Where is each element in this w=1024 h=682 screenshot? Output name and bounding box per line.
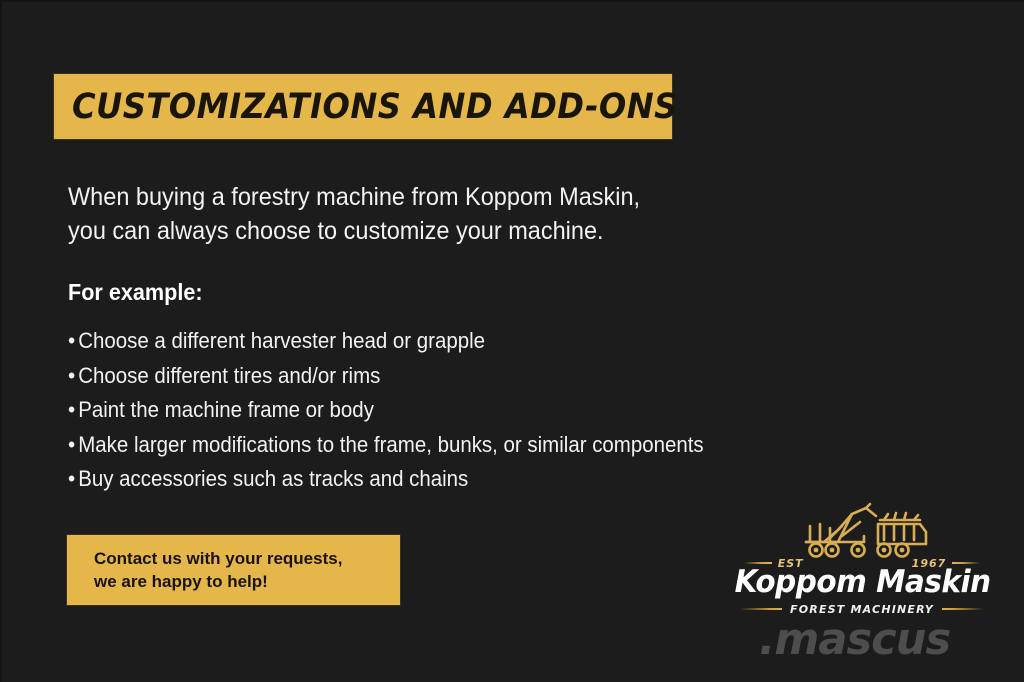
koppom-maskin-logo: EST 1967 Koppom Maskin FOREST MACHINERY [728, 502, 994, 614]
intro-line-2: you can always choose to customize your … [68, 214, 726, 248]
intro-paragraph: When buying a forestry machine from Kopp… [68, 180, 726, 248]
intro-line-1: When buying a forestry machine from Kopp… [68, 180, 726, 214]
contact-cta-box[interactable]: Contact us with your requests, we are ha… [67, 535, 400, 605]
list-item-label: Buy accessories such as tracks and chain… [78, 466, 468, 491]
tagline-rule-right [942, 608, 984, 610]
logo-company-name: Koppom Maskin [735, 564, 988, 600]
title-banner: CUSTOMIZATIONS AND ADD-ONS [54, 74, 672, 139]
list-item: •Buy accessories such as tracks and chai… [68, 462, 812, 497]
list-item: •Choose different tires and/or rims [68, 359, 812, 394]
bullet-dot-icon: • [68, 324, 78, 359]
tagline-rule-left [740, 608, 782, 610]
list-item-label: Choose different tires and/or rims [78, 363, 380, 388]
list-item-label: Paint the machine frame or body [78, 397, 374, 422]
for-example-heading: For example: [68, 279, 203, 306]
list-item: •Choose a different harvester head or gr… [68, 324, 812, 359]
bullet-dot-icon: • [68, 393, 78, 428]
customization-options-list: •Choose a different harvester head or gr… [68, 324, 868, 497]
list-item: •Paint the machine frame or body [68, 393, 812, 428]
page-title: CUSTOMIZATIONS AND ADD-ONS [72, 87, 678, 127]
cta-line-2: we are happy to help! [94, 570, 400, 593]
forwarder-machine-icon [780, 502, 940, 558]
bullet-dot-icon: • [68, 359, 78, 394]
mascus-watermark: .mascus [759, 614, 950, 665]
list-item-label: Make larger modifications to the frame, … [78, 432, 703, 457]
bullet-dot-icon: • [68, 462, 78, 497]
list-item-label: Choose a different harvester head or gra… [78, 328, 485, 353]
list-item: •Make larger modifications to the frame,… [68, 428, 812, 463]
cta-line-1: Contact us with your requests, [94, 547, 400, 570]
bullet-dot-icon: • [68, 428, 78, 463]
promotional-slide: CUSTOMIZATIONS AND ADD-ONS When buying a… [0, 0, 1024, 682]
